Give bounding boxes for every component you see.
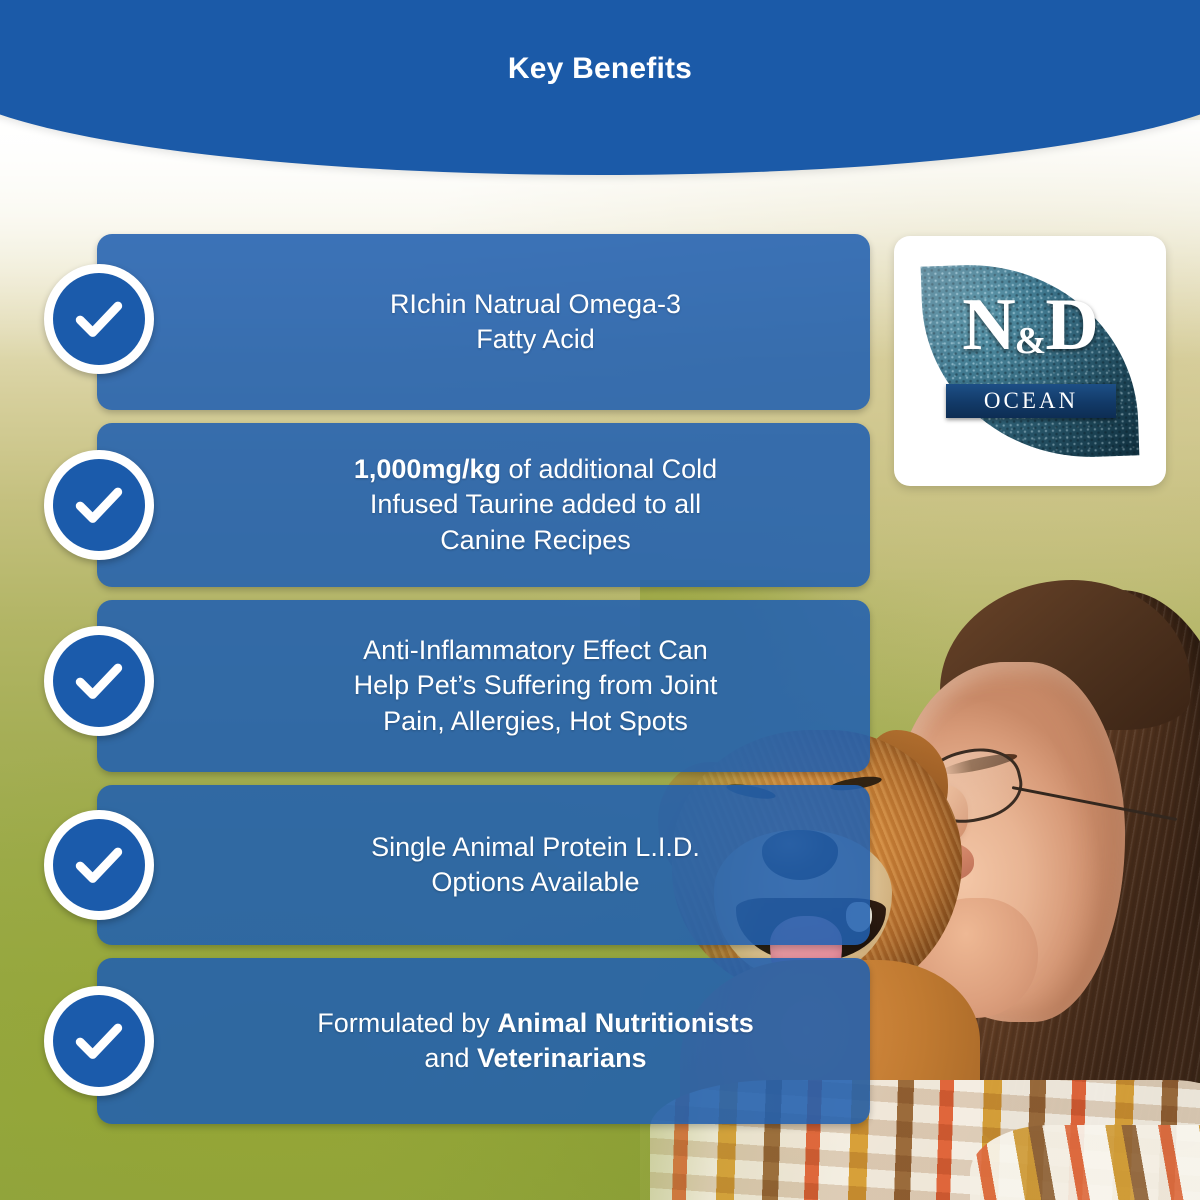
benefit-line: Help Pet’s Suffering from Joint xyxy=(354,670,718,700)
logo-ocean-text: OCEAN xyxy=(984,388,1078,414)
logo-brand-text: N&D xyxy=(894,288,1166,362)
benefit-line: of additional Cold xyxy=(508,454,717,484)
benefit-bold-dose: 1,000mg/kg xyxy=(354,454,501,484)
benefit-text-3: Anti-Inflammatory Effect Can Help Pet’s … xyxy=(354,633,718,738)
nd-ocean-logo-badge: N&D OCEAN xyxy=(894,236,1166,486)
benefit-card-3[interactable]: Anti-Inflammatory Effect Can Help Pet’s … xyxy=(97,600,870,772)
benefit-bold-nutritionists: Animal Nutritionists xyxy=(497,1008,754,1038)
logo-ribbon: OCEAN xyxy=(946,384,1116,418)
logo-letter-d: D xyxy=(1045,284,1097,366)
check-icon-1 xyxy=(44,264,154,374)
benefit-line: Formulated by xyxy=(317,1008,497,1038)
benefit-card-5[interactable]: Formulated by Animal Nutritionists and V… xyxy=(97,958,870,1124)
check-icon xyxy=(53,995,145,1087)
benefit-card-4[interactable]: Single Animal Protein L.I.D. Options Ava… xyxy=(97,785,870,945)
check-icon xyxy=(53,273,145,365)
benefit-line: RIchin Natrual Omega-3 xyxy=(390,289,681,319)
benefit-card-1[interactable]: RIchin Natrual Omega-3 Fatty Acid xyxy=(97,234,870,410)
benefit-text-1: RIchin Natrual Omega-3 Fatty Acid xyxy=(390,287,681,357)
check-icon-2 xyxy=(44,450,154,560)
benefit-line: Options Available xyxy=(431,867,639,897)
benefits-list: RIchin Natrual Omega-3 Fatty Acid 1,000m… xyxy=(0,0,1200,1200)
benefit-line: and xyxy=(424,1043,477,1073)
benefit-card-2[interactable]: 1,000mg/kg of additional Cold Infused Ta… xyxy=(97,423,870,587)
benefit-text-2: 1,000mg/kg of additional Cold Infused Ta… xyxy=(354,452,717,557)
benefit-text-4: Single Animal Protein L.I.D. Options Ava… xyxy=(371,830,700,900)
check-icon xyxy=(53,635,145,727)
benefit-line: Single Animal Protein L.I.D. xyxy=(371,832,700,862)
benefit-line: Anti-Inflammatory Effect Can xyxy=(363,635,708,665)
benefit-bold-veterinarians: Veterinarians xyxy=(477,1043,647,1073)
logo-ampersand: & xyxy=(1015,320,1046,362)
check-icon xyxy=(53,819,145,911)
logo-letter-n: N xyxy=(962,284,1014,366)
check-icon xyxy=(53,459,145,551)
benefit-text-5: Formulated by Animal Nutritionists and V… xyxy=(317,1006,754,1076)
benefit-line: Pain, Allergies, Hot Spots xyxy=(383,706,688,736)
check-icon-4 xyxy=(44,810,154,920)
benefit-line: Infused Taurine added to all xyxy=(370,489,701,519)
benefit-line: Fatty Acid xyxy=(476,324,595,354)
check-icon-3 xyxy=(44,626,154,736)
key-benefits-poster: Key Benefits RIchin Natrual Omega-3 Fatt… xyxy=(0,0,1200,1200)
benefit-line: Canine Recipes xyxy=(440,525,631,555)
check-icon-5 xyxy=(44,986,154,1096)
